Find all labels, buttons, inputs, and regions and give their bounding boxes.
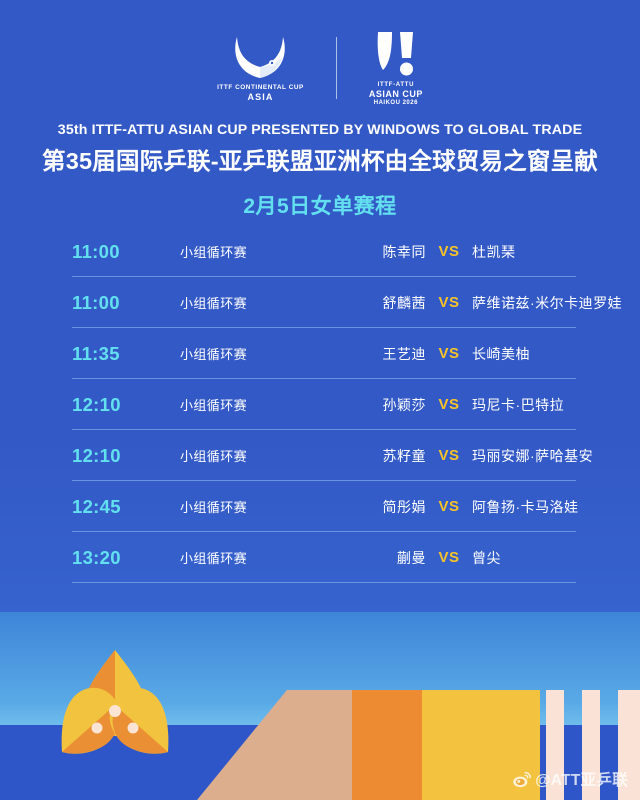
match-player2: 阿鲁扬·卡马洛娃 bbox=[472, 497, 579, 517]
match-stage: 小组循环赛 bbox=[180, 395, 330, 414]
table-row[interactable]: 11:00 小组循环赛 陈幸同 VS 杜凯琹 bbox=[72, 226, 576, 277]
match-time: 11:00 bbox=[72, 292, 180, 314]
match-time: 12:10 bbox=[72, 394, 180, 416]
match-vs-label: VS bbox=[426, 498, 472, 515]
ittf-attu-asian-cup-haikou-logo-icon bbox=[375, 30, 417, 78]
match-player2: 曾尖 bbox=[472, 548, 576, 568]
match-player2: 玛丽安娜·萨哈基安 bbox=[472, 446, 593, 466]
table-row[interactable]: 12:45 小组循环赛 简彤娟 VS 阿鲁扬·卡马洛娃 bbox=[72, 481, 576, 532]
watermark: @ATT亚乒联 bbox=[512, 768, 628, 790]
ittf-continental-cup-asia-logo-icon bbox=[230, 34, 290, 80]
orange-bar-shape bbox=[352, 690, 422, 800]
match-vs-label: VS bbox=[426, 396, 472, 413]
match-stage: 小组循环赛 bbox=[180, 446, 330, 465]
match-stage: 小组循环赛 bbox=[180, 242, 330, 261]
table-row[interactable]: 12:10 小组循环赛 孙颖莎 VS 玛尼卡·巴特拉 bbox=[72, 379, 576, 430]
title-chinese: 第35届国际乒联-亚乒联盟亚洲杯由全球贸易之窗呈献 bbox=[0, 142, 640, 176]
match-vs-label: VS bbox=[426, 549, 472, 566]
weibo-icon bbox=[512, 770, 531, 789]
logo-row: ITTF CONTINENTAL CUP ASIA ITTF-ATTU ASIA… bbox=[0, 26, 640, 110]
logo-right: ITTF-ATTU ASIAN CUP HAIKOU 2026 bbox=[369, 30, 423, 106]
title-english: 35th ITTF-ATTU ASIAN CUP PRESENTED BY WI… bbox=[0, 122, 640, 138]
match-player2: 玛尼卡·巴特拉 bbox=[472, 395, 576, 415]
match-time: 11:35 bbox=[72, 343, 180, 365]
logo-right-line2: ASIAN CUP bbox=[369, 89, 423, 99]
table-row[interactable]: 12:10 小组循环赛 苏籽童 VS 玛丽安娜·萨哈基安 bbox=[72, 430, 576, 481]
match-player2: 萨维诺兹·米尔卡迪罗娃 bbox=[472, 293, 622, 313]
match-player1: 简彤娟 bbox=[330, 497, 426, 517]
match-time: 12:45 bbox=[72, 496, 180, 518]
match-player1: 陈幸同 bbox=[330, 242, 426, 262]
logo-right-line3: HAIKOU 2026 bbox=[374, 100, 418, 106]
match-vs-label: VS bbox=[426, 447, 472, 464]
match-player2: 杜凯琹 bbox=[472, 242, 576, 262]
watermark-handle: @ATT亚乒联 bbox=[535, 768, 628, 790]
match-player1: 苏籽童 bbox=[330, 446, 426, 466]
table-row[interactable]: 11:35 小组循环赛 王艺迪 VS 长崎美柚 bbox=[72, 328, 576, 379]
logo-right-line1: ITTF-ATTU bbox=[378, 82, 415, 88]
match-time: 12:10 bbox=[72, 445, 180, 467]
match-player1: 蒯曼 bbox=[330, 548, 426, 568]
logo-left-caption: ITTF CONTINENTAL CUP bbox=[217, 84, 304, 91]
logo-divider bbox=[336, 37, 337, 99]
match-vs-label: VS bbox=[426, 294, 472, 311]
match-vs-label: VS bbox=[426, 345, 472, 362]
table-row[interactable]: 11:00 小组循环赛 舒麟茜 VS 萨维诺兹·米尔卡迪罗娃 bbox=[72, 277, 576, 328]
match-player1: 舒麟茜 bbox=[330, 293, 426, 313]
schedule-table: 11:00 小组循环赛 陈幸同 VS 杜凯琹 11:00 小组循环赛 舒麟茜 V… bbox=[72, 226, 576, 583]
logo-left-subcaption: ASIA bbox=[248, 92, 274, 102]
match-player2: 长崎美柚 bbox=[472, 344, 576, 364]
poster-root: ITTF CONTINENTAL CUP ASIA ITTF-ATTU ASIA… bbox=[0, 0, 640, 800]
match-stage: 小组循环赛 bbox=[180, 293, 330, 312]
logo-left: ITTF CONTINENTAL CUP ASIA bbox=[217, 34, 304, 102]
match-time: 13:20 bbox=[72, 547, 180, 569]
match-player1: 孙颖莎 bbox=[330, 395, 426, 415]
match-vs-label: VS bbox=[426, 243, 472, 260]
match-player1: 王艺迪 bbox=[330, 344, 426, 364]
match-stage: 小组循环赛 bbox=[180, 497, 330, 516]
match-stage: 小组循环赛 bbox=[180, 548, 330, 567]
schedule-subtitle: 2月5日女单赛程 bbox=[0, 190, 640, 220]
table-row[interactable]: 13:20 小组循环赛 蒯曼 VS 曾尖 bbox=[72, 532, 576, 583]
bauhinia-flower-graphic-icon bbox=[48, 648, 182, 760]
match-time: 11:00 bbox=[72, 241, 180, 263]
match-stage: 小组循环赛 bbox=[180, 344, 330, 363]
